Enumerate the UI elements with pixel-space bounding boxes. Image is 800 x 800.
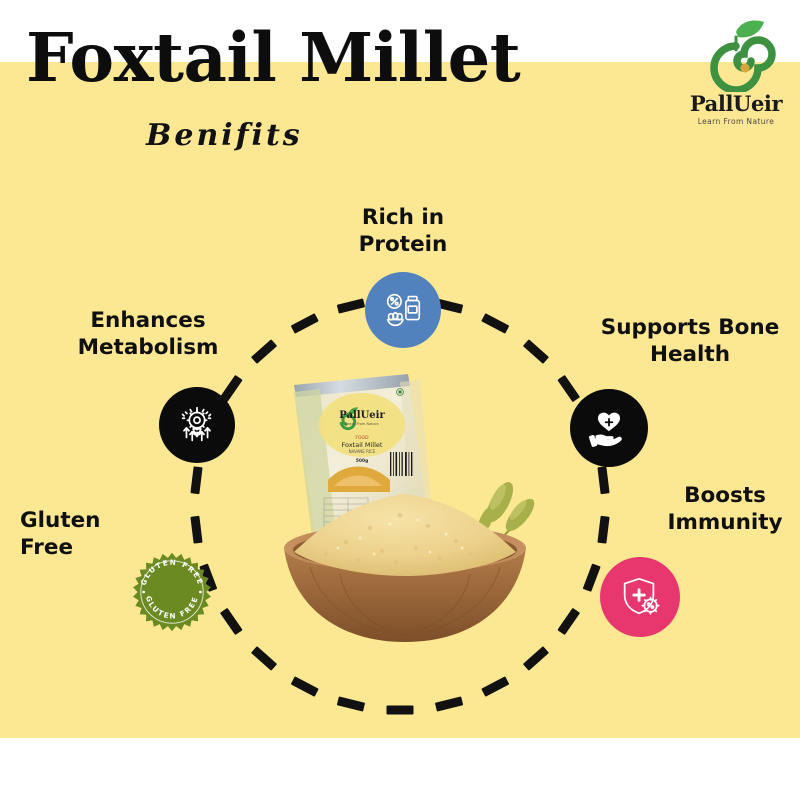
svg-text:Learn From Nature: Learn From Nature <box>345 422 379 426</box>
foxtail-millet-bowl-photo: PallUeir Learn From Nature FOOD Foxtail … <box>250 352 560 652</box>
hand-heart-cross-icon <box>586 405 632 451</box>
ring-dash <box>220 608 243 635</box>
metabolism-bulb-gear-icon <box>174 402 220 448</box>
protein-jar-icon <box>380 287 426 333</box>
ring-dash <box>597 516 609 544</box>
gluten-free-badge-shape: GLUTEN FREE GLUTEN FREE <box>132 552 212 632</box>
ring-dash <box>387 706 414 715</box>
poster-background-panel: PallUeir Learn From Nature FOOD Foxtail … <box>0 62 800 738</box>
ring-dash <box>583 563 601 591</box>
benefit-icon-enhances-metabolism[interactable] <box>159 387 235 463</box>
brand-logo[interactable]: PallUeir Learn From Nature <box>684 20 788 145</box>
ring-dash <box>597 466 609 494</box>
benefit-icon-gluten-free[interactable]: GLUTEN FREE GLUTEN FREE <box>132 552 212 632</box>
benefit-label-gluten-free: Gluten Free <box>20 508 130 562</box>
benefit-icon-supports-bone-health[interactable] <box>570 389 648 467</box>
svg-text:PallUeir: PallUeir <box>339 410 385 421</box>
svg-text:Foxtail Millet: Foxtail Millet <box>342 441 383 449</box>
benefit-label-enhances-metabolism: Enhances Metabolism <box>48 308 248 362</box>
benefit-icon-boosts-immunity[interactable] <box>600 557 680 637</box>
ring-dash <box>337 696 365 711</box>
benefit-label-rich-in-protein: Rich in Protein <box>318 205 488 259</box>
ring-dash <box>291 676 319 697</box>
ring-dash <box>435 696 463 711</box>
ring-dash <box>481 676 509 697</box>
poster-canvas: PallUeir Learn From Nature FOOD Foxtail … <box>0 0 800 800</box>
page-title: Foxtail Millet <box>26 24 520 91</box>
ring-dash <box>291 313 319 334</box>
benefit-label-boosts-immunity: Boosts Immunity <box>650 483 800 537</box>
ring-dash <box>190 466 202 494</box>
green-spiral-leaf-logo-icon <box>684 20 788 92</box>
svg-text:500g: 500g <box>356 458 369 464</box>
page-subtitle: Benifits <box>146 118 303 153</box>
brand-name: PallUeir <box>684 93 788 114</box>
ring-dash <box>557 375 580 402</box>
benefit-label-supports-bone-health: Supports Bone Health <box>580 315 800 369</box>
ring-dash <box>557 608 580 635</box>
brand-tagline: Learn From Nature <box>684 117 788 126</box>
svg-text:NAVANE RICE: NAVANE RICE <box>349 449 376 454</box>
benefit-icon-rich-in-protein[interactable] <box>365 272 441 348</box>
ring-dash <box>481 313 509 334</box>
shield-virus-icon <box>617 574 663 620</box>
ring-dash <box>190 516 202 544</box>
ring-dash <box>337 298 365 313</box>
